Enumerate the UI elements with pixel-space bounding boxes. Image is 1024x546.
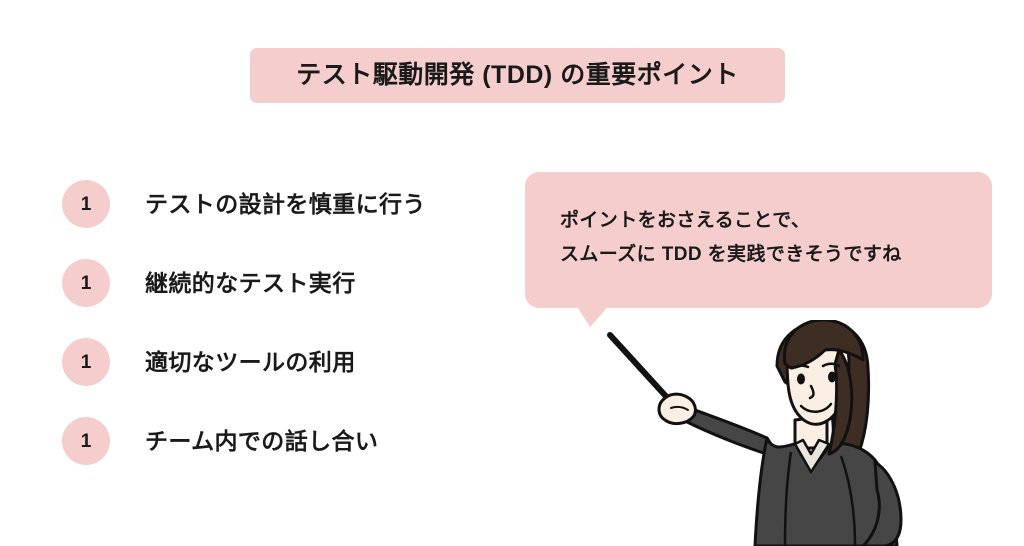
eye-right [828,372,836,383]
list-item: 1 適切なツールの利用 [62,338,502,386]
bullet-label: 継続的なテスト実行 [145,272,356,295]
bullet-badge-2: 1 [62,259,110,307]
eye-left [797,374,805,385]
speech-bubble-line-1: ポイントをおさえることで、 [560,204,980,238]
bullet-label: 適切なツールの利用 [145,351,356,374]
bullet-number: 1 [81,195,92,214]
slide-canvas: テスト駆動開発 (TDD) の重要ポイント 1 テストの設計を慎重に行う 1 継… [0,0,1024,546]
page-title: テスト駆動開発 (TDD) の重要ポイント [296,63,738,88]
list-item: 1 継続的なテスト実行 [62,259,502,307]
bullet-badge-3: 1 [62,338,110,386]
speech-bubble-text: ポイントをおさえることで、 スムーズに TDD を実践できそうですね [560,204,980,272]
bullet-number: 1 [81,432,92,451]
bullet-badge-1: 1 [62,180,110,228]
hand [659,394,695,423]
bullet-label: テストの設計を慎重に行う [145,193,426,216]
bullet-number: 1 [81,353,92,372]
title-banner: テスト駆動開発 (TDD) の重要ポイント [250,48,785,103]
bullet-label: チーム内での話し合い [145,430,378,453]
pointer-stick-icon [610,335,673,404]
speech-bubble-line-2: スムーズに TDD を実践できそうですね [560,238,980,272]
key-points-list: 1 テストの設計を慎重に行う 1 継続的なテスト実行 1 適切なツールの利用 1… [62,180,502,465]
presenter-illustration [595,320,925,546]
bullet-badge-4: 1 [62,417,110,465]
list-item: 1 テストの設計を慎重に行う [62,180,502,228]
list-item: 1 チーム内での話し合い [62,417,502,465]
bullet-number: 1 [81,274,92,293]
speech-bubble: ポイントをおさえることで、 スムーズに TDD を実践できそうですね [525,172,992,308]
